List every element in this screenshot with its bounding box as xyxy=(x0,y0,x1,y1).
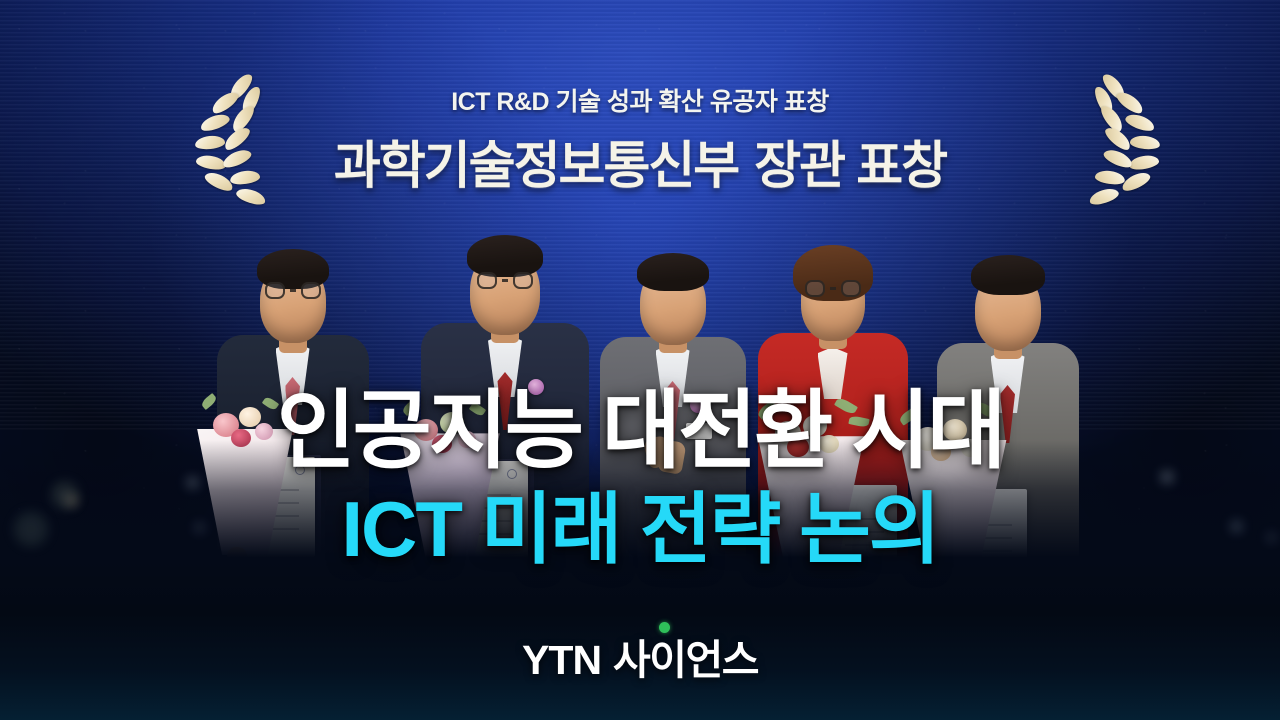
headline-line-1: 인공지능 대전환 시대 xyxy=(0,388,1280,474)
headline: 인공지능 대전환 시대 ICT 미래 전략 논의 xyxy=(0,388,1280,568)
banner-subtitle: ICT R&D 기술 성과 확산 유공자 표창 xyxy=(0,82,1280,118)
logo-ytn-text: YTN xyxy=(522,637,601,683)
person-2-glasses xyxy=(477,272,533,289)
broadcaster-logo: YTN사이언스 xyxy=(0,626,1280,686)
person-2-hair xyxy=(467,235,543,277)
green-dot-icon xyxy=(659,622,670,633)
person-1-glasses xyxy=(265,282,321,299)
headline-line-2: ICT 미래 전략 논의 xyxy=(0,490,1280,568)
person-3-hair xyxy=(637,253,709,291)
video-thumbnail: ICT R&D 기술 성과 확산 유공자 표창 과학기술정보통신부장관 표창 xyxy=(0,0,1280,720)
person-4-glasses xyxy=(805,280,861,297)
person-5-hair xyxy=(971,255,1045,295)
logo-science-text: 사이언스 xyxy=(613,626,758,686)
